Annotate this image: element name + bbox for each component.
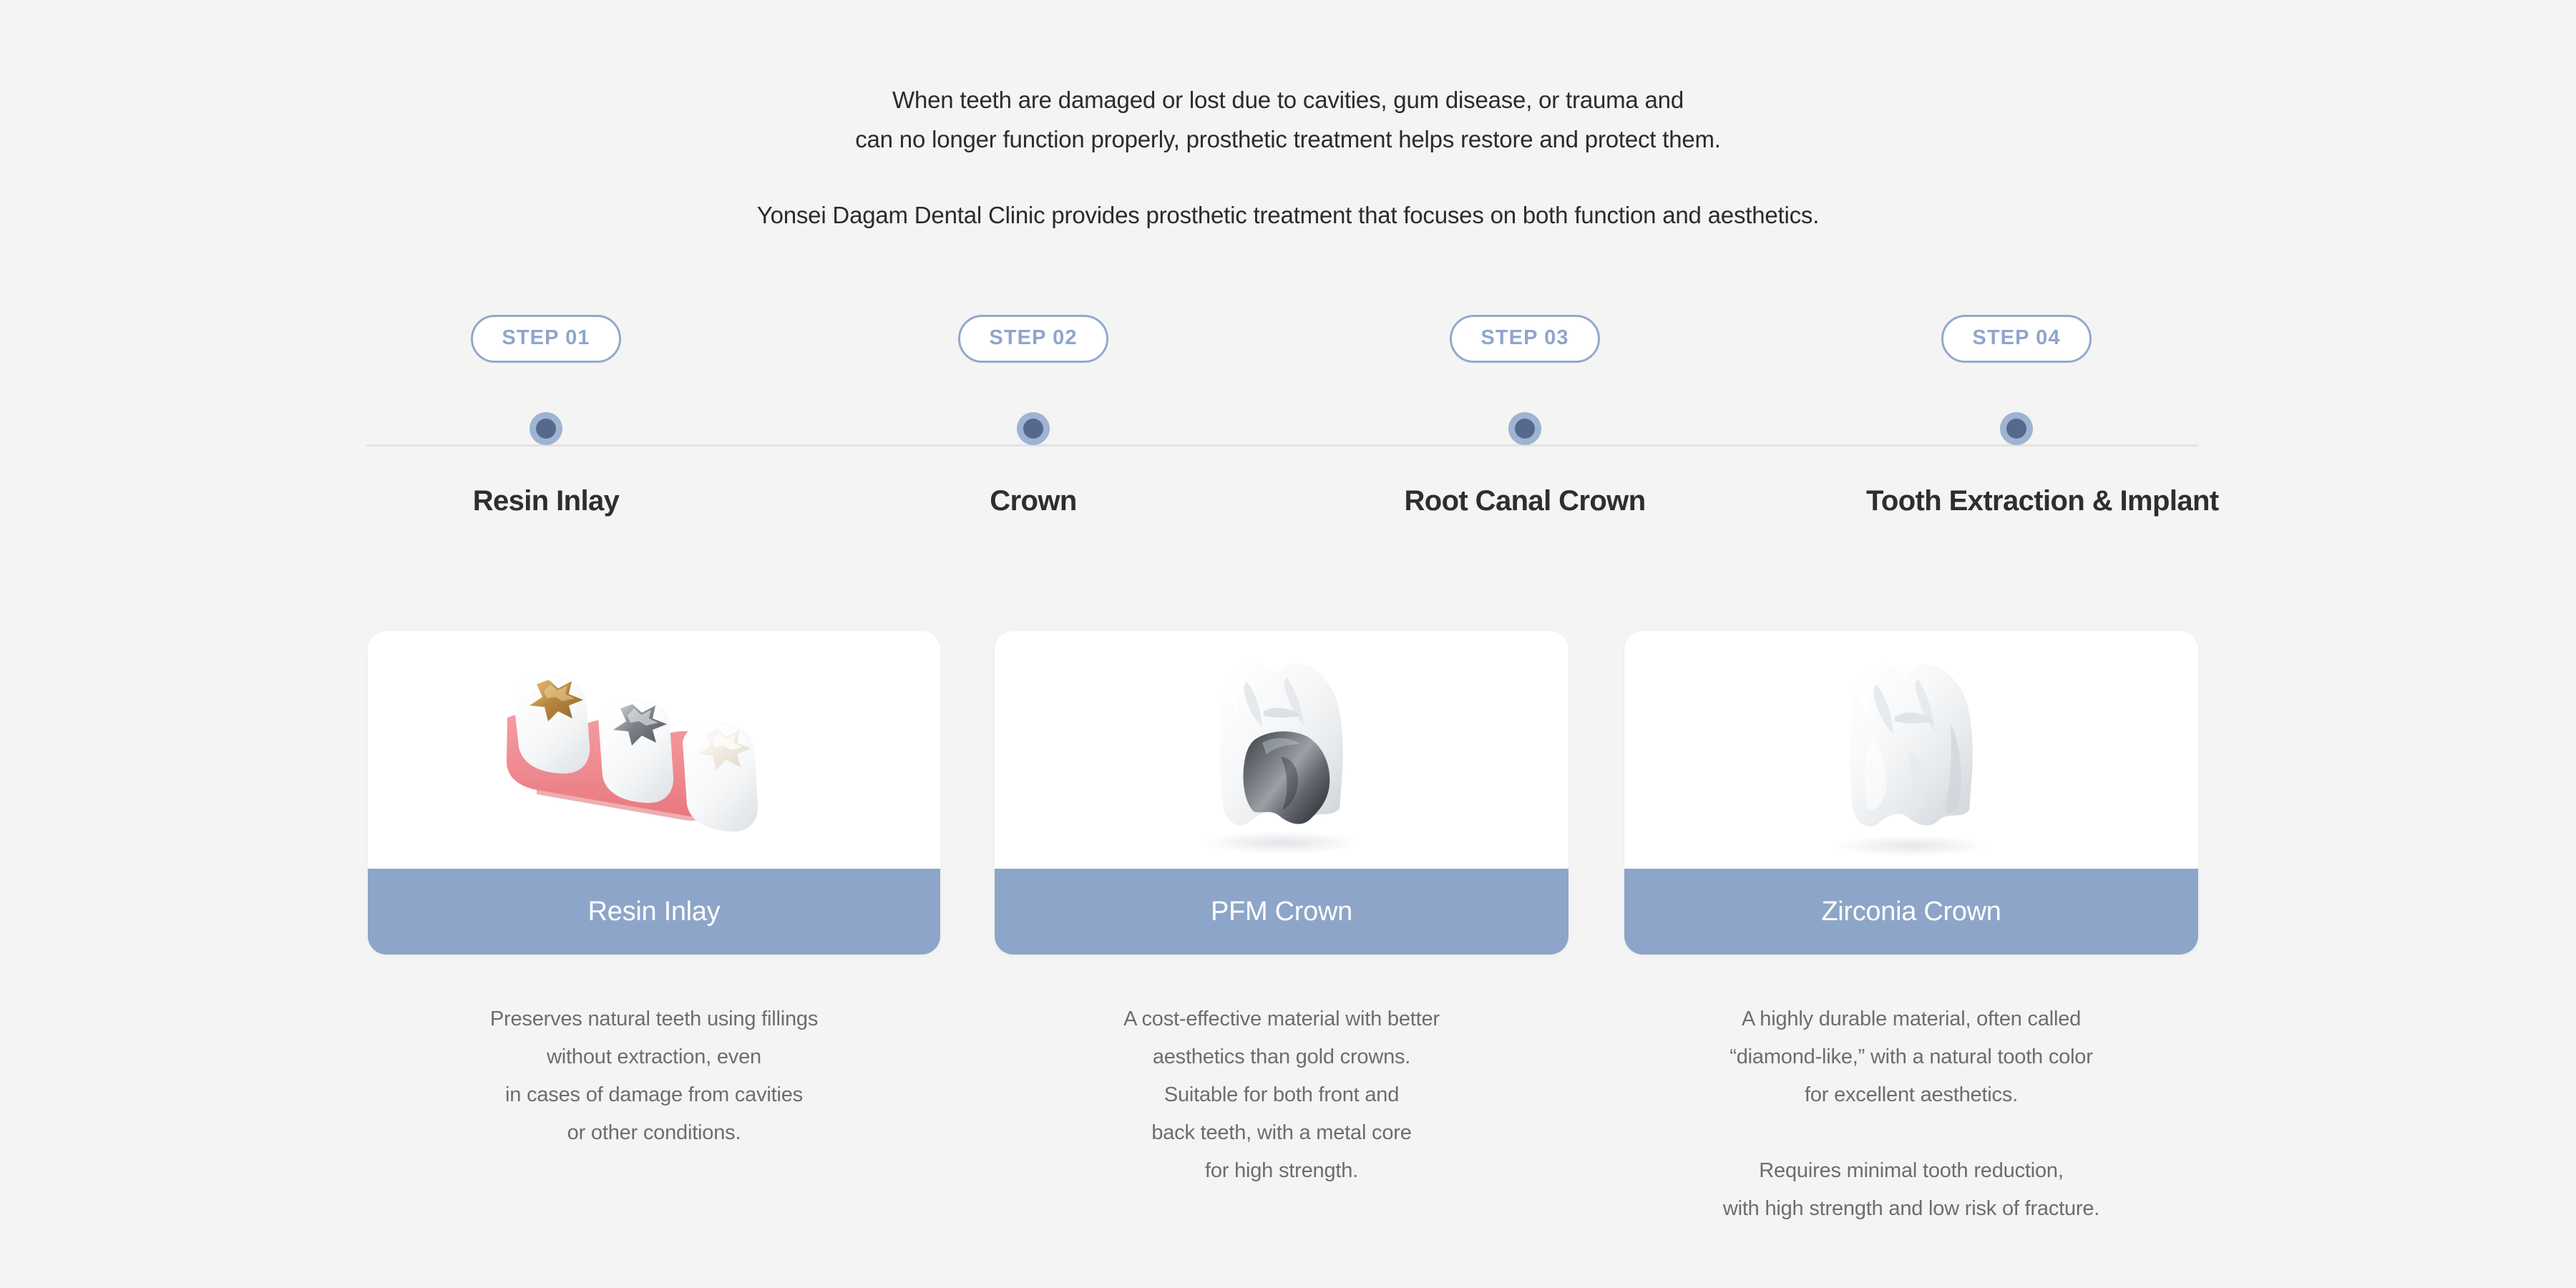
description-line: Preserves natural teeth using fillings [368, 1000, 940, 1038]
card-banner-label: Resin Inlay [588, 897, 721, 927]
description-line: aesthetics than gold crowns. [995, 1038, 1568, 1076]
description-line: for high strength. [995, 1152, 1568, 1190]
molars-with-inlays-icon [368, 631, 940, 869]
card-banner-zirconia-crown: Zirconia Crown [1624, 869, 2198, 955]
description-line: without extraction, even [368, 1038, 940, 1076]
description-line: A cost-effective material with better [995, 1000, 1568, 1038]
molar-gold [513, 674, 590, 774]
description-line: Suitable for both front and [995, 1076, 1568, 1114]
card-resin-inlay[interactable]: Resin Inlay [368, 631, 940, 955]
molar-resin [683, 721, 758, 831]
molar-silver [598, 697, 673, 803]
description-line: or other conditions. [368, 1114, 940, 1152]
card-banner-resin-inlay: Resin Inlay [368, 869, 940, 955]
card-banner-pfm-crown: PFM Crown [995, 869, 1568, 955]
card-description-pfm-crown: A cost-effective material with better ae… [995, 1000, 1568, 1190]
card-pfm-crown[interactable]: PFM Crown [995, 631, 1568, 955]
card-artwork-zirconia-crown [1624, 631, 2198, 869]
card-artwork-pfm-crown [995, 631, 1568, 869]
prosthetic-treatment-page: When teeth are damaged or lost due to ca… [0, 0, 2576, 1288]
card-description-zirconia-crown: A highly durable material, often called … [1624, 1000, 2198, 1228]
description-line: with high strength and low risk of fract… [1624, 1190, 2198, 1228]
prosthetic-option-cards: Resin Inlay Preserves natural teeth usin… [0, 0, 2576, 1288]
card-artwork-resin-inlay [368, 631, 940, 869]
description-line: for excellent aesthetics. [1624, 1076, 2198, 1114]
description-line: A highly durable material, often called [1624, 1000, 2198, 1038]
drop-shadow [1203, 831, 1360, 854]
description-line: in cases of damage from cavities [368, 1076, 940, 1114]
card-zirconia-crown[interactable]: Zirconia Crown [1624, 631, 2198, 955]
description-spacer [1624, 1114, 2198, 1152]
description-line: Requires minimal tooth reduction, [1624, 1152, 2198, 1190]
pfm-crown-icon [995, 631, 1568, 869]
description-line: back teeth, with a metal core [995, 1114, 1568, 1152]
drop-shadow [1834, 835, 1989, 857]
description-line: “diamond-like,” with a natural tooth col… [1624, 1038, 2198, 1076]
card-description-resin-inlay: Preserves natural teeth using fillings w… [368, 1000, 940, 1152]
card-banner-label: PFM Crown [1211, 897, 1352, 927]
card-banner-label: Zirconia Crown [1821, 897, 2001, 927]
zirconia-crown-icon [1624, 631, 2198, 869]
